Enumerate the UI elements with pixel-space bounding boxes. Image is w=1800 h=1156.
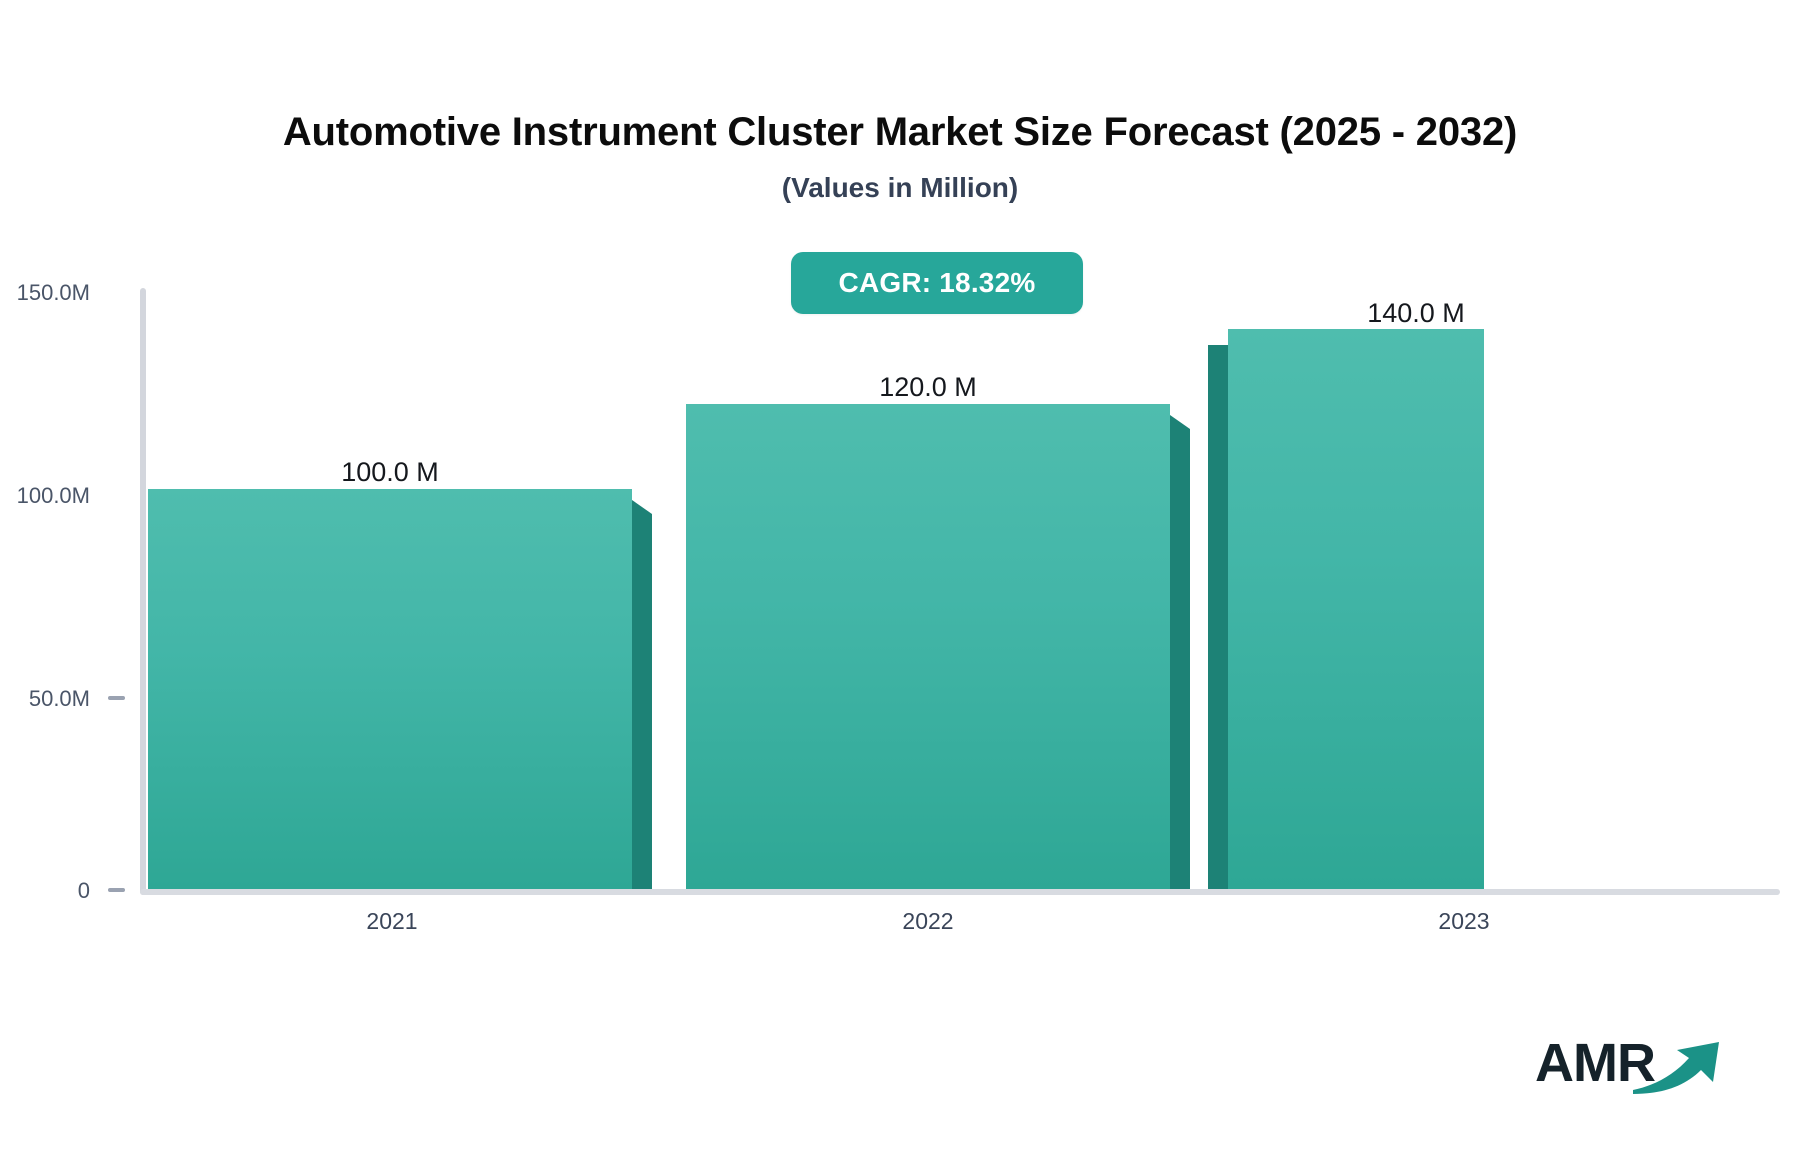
y-tick-label-50: 50.0M (0, 686, 90, 712)
x-tick-label-2021: 2021 (292, 908, 492, 935)
bar-side-2023 (1208, 331, 1228, 889)
y-axis-spine (140, 288, 146, 895)
bar-2023[interactable] (1228, 329, 1484, 889)
y-tick-dash-50 (108, 696, 125, 700)
x-tick-label-2022: 2022 (828, 908, 1028, 935)
y-tick-label-100: 100.0M (0, 483, 90, 509)
cagr-badge-label: CAGR: 18.32% (839, 267, 1036, 299)
bar-value-label-2021: 100.0 M (240, 457, 540, 488)
chart-canvas: Automotive Instrument Cluster Market Siz… (0, 0, 1800, 1156)
bar-side-2021 (632, 500, 652, 889)
y-tick-label-0: 0 (0, 878, 90, 904)
y-tick-dash-0 (108, 888, 125, 892)
growth-arrow-icon (1627, 1036, 1732, 1101)
bar-2021[interactable] (148, 489, 632, 889)
plot-area: 150.0M 100.0M 50.0M 0 100.0 M 2021 120.0… (0, 0, 1800, 1156)
bar-2022[interactable] (686, 404, 1170, 889)
amr-logo: AMR (1535, 1030, 1715, 1100)
x-tick-label-2023: 2023 (1364, 908, 1564, 935)
bar-value-label-2023: 140.0 M (1266, 298, 1566, 329)
bar-value-label-2022: 120.0 M (778, 372, 1078, 403)
x-axis-baseline (140, 889, 1780, 895)
cagr-badge: CAGR: 18.32% (791, 252, 1083, 314)
bar-side-2022 (1170, 415, 1190, 889)
y-tick-label-150: 150.0M (0, 280, 90, 306)
